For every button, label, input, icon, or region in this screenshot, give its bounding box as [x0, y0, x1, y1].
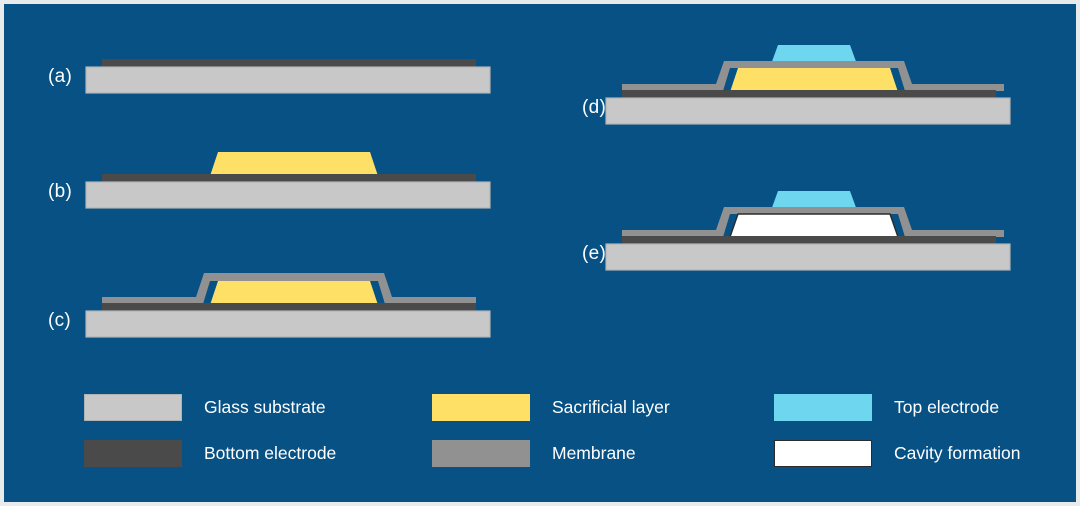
legend-swatch-glass-substrate: [84, 394, 182, 421]
legend-label-sacrificial-layer: Sacrificial layer: [552, 397, 670, 418]
legend-swatch-cavity-formation: [774, 440, 872, 467]
panel-d-sacrificial-layer: [730, 68, 898, 92]
fabrication-process-diagram: [4, 4, 1076, 502]
legend-swatch-membrane: [432, 440, 530, 467]
panel-d-glass-substrate: [606, 98, 1010, 124]
legend-label-cavity-formation: Cavity formation: [894, 443, 1020, 464]
legend-label-bottom-electrode: Bottom electrode: [204, 443, 336, 464]
panel-e-graphic: [606, 191, 1010, 270]
legend-item-cavity-formation: Cavity formation: [774, 440, 1020, 467]
legend-label-top-electrode: Top electrode: [894, 397, 999, 418]
legend-swatch-bottom-electrode: [84, 440, 182, 467]
panel-label-e: (e): [582, 243, 606, 265]
panel-d-graphic: [606, 45, 1010, 124]
legend-label-glass-substrate: Glass substrate: [204, 397, 326, 418]
panel-label-d: (d): [582, 97, 606, 119]
panel-b-graphic: [86, 152, 490, 208]
panel-c-graphic: [86, 273, 490, 337]
panel-a-glass-substrate: [86, 67, 490, 93]
legend-item-membrane: Membrane: [432, 440, 636, 467]
figure-root: (a) (b) (c) (d) (e) Glass substrate Bott…: [0, 0, 1080, 506]
panel-e-cavity: [730, 214, 898, 237]
panel-c-glass-substrate: [86, 311, 490, 337]
legend-swatch-top-electrode: [774, 394, 872, 421]
legend-item-top-electrode: Top electrode: [774, 394, 999, 421]
panel-a-graphic: [86, 59, 490, 93]
panel-b-sacrificial-layer: [210, 152, 378, 176]
legend-item-bottom-electrode: Bottom electrode: [84, 440, 336, 467]
panel-label-a: (a): [48, 66, 72, 88]
legend-swatch-sacrificial-layer: [432, 394, 530, 421]
diagram-canvas: (a) (b) (c) (d) (e) Glass substrate Bott…: [4, 4, 1076, 502]
panel-label-c: (c): [48, 310, 71, 332]
legend-item-glass-substrate: Glass substrate: [84, 394, 326, 421]
legend-label-membrane: Membrane: [552, 443, 636, 464]
legend-item-sacrificial-layer: Sacrificial layer: [432, 394, 670, 421]
panel-b-glass-substrate: [86, 182, 490, 208]
panel-c-sacrificial-layer: [210, 281, 378, 305]
panel-label-b: (b): [48, 181, 72, 203]
panel-e-glass-substrate: [606, 244, 1010, 270]
